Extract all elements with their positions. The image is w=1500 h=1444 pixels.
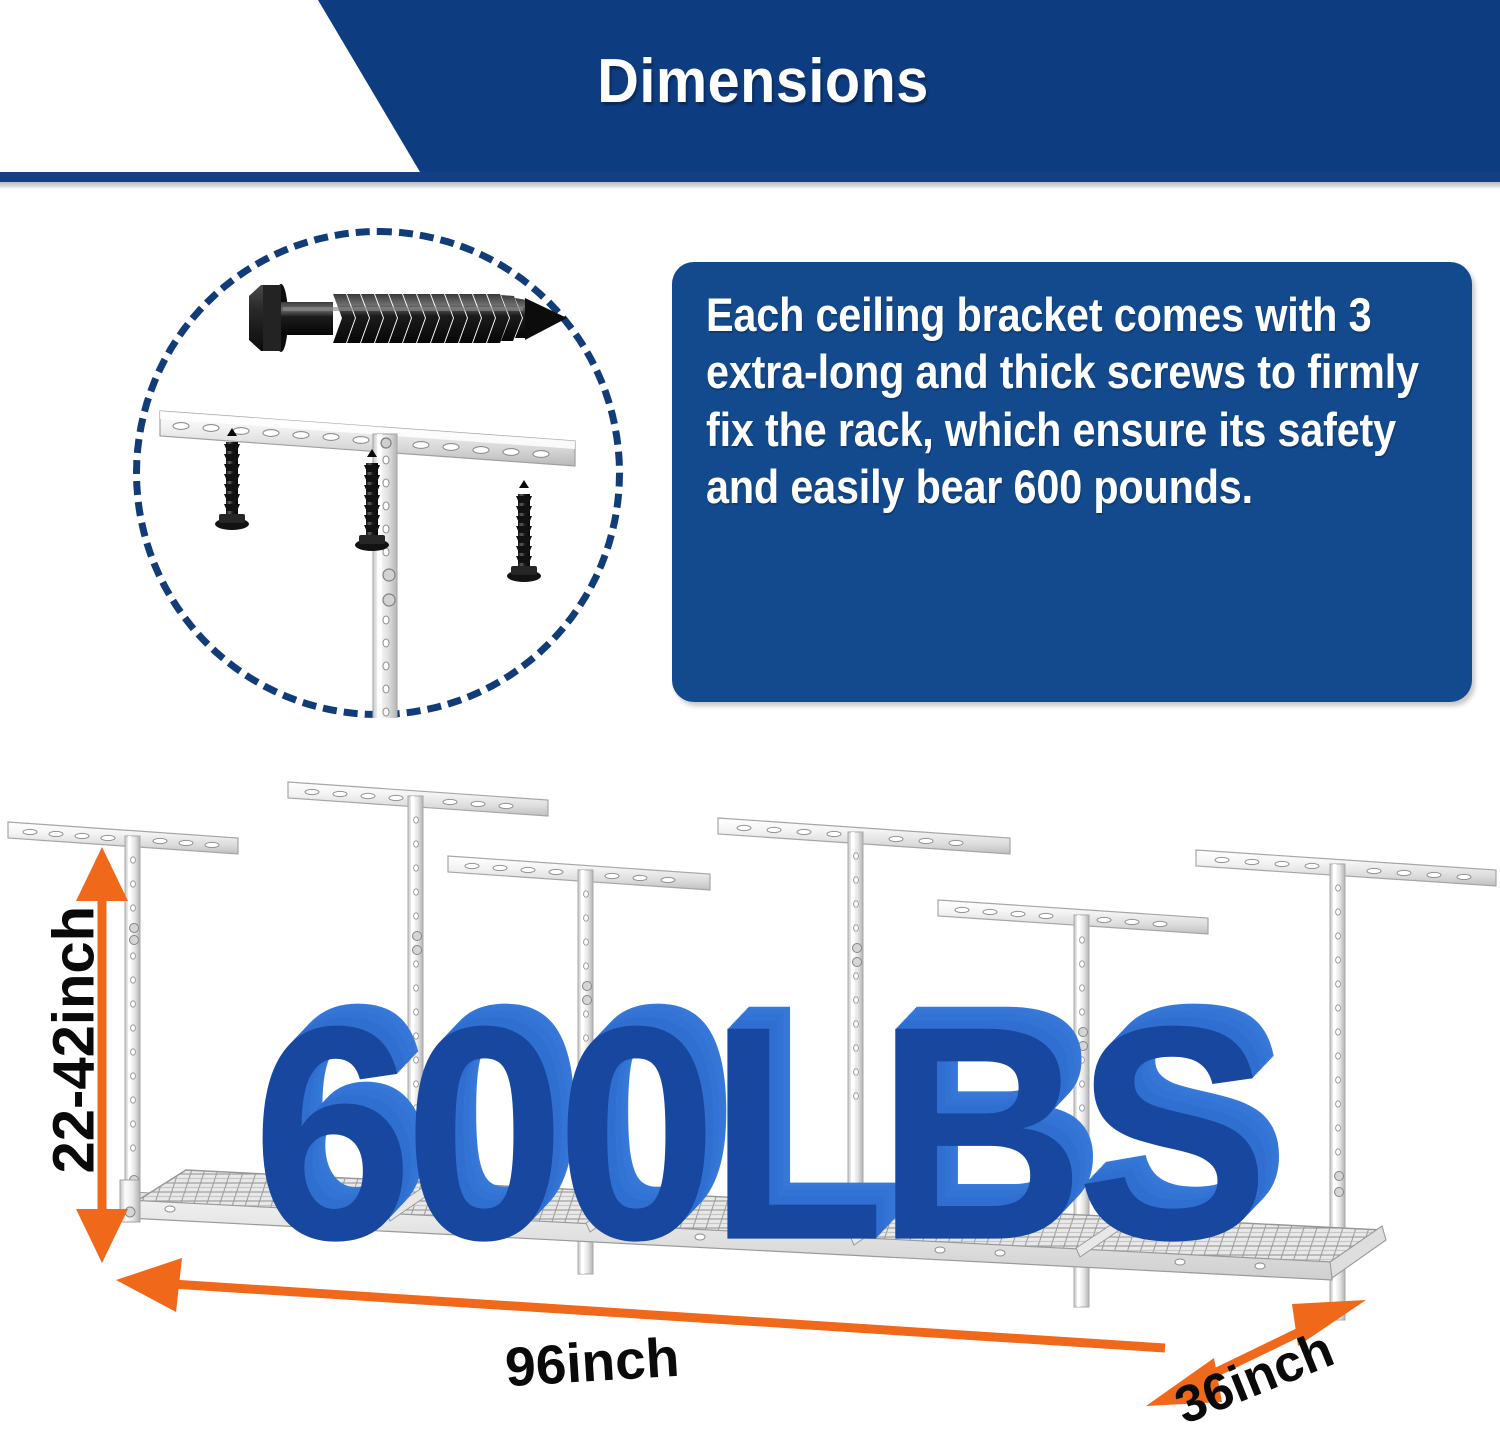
height-dimension-label: 22-42inch — [41, 934, 108, 1174]
width-dimension-label: 96inch — [503, 1325, 681, 1400]
header-shadow-divider — [0, 182, 1500, 189]
page-title: Dimensions — [53, 46, 1448, 117]
lag-screw-large — [249, 284, 567, 352]
screw-bracket-illustration — [133, 228, 623, 718]
bracket-screw-right — [507, 480, 541, 582]
feature-callout-text: Each ceiling bracket comes with 3 extra-… — [706, 286, 1438, 515]
ceiling-bracket-t — [160, 411, 575, 718]
header-underbar — [0, 172, 1500, 182]
feature-callout-box: Each ceiling bracket comes with 3 extra-… — [672, 262, 1472, 702]
bracket-screw-left — [215, 428, 249, 530]
